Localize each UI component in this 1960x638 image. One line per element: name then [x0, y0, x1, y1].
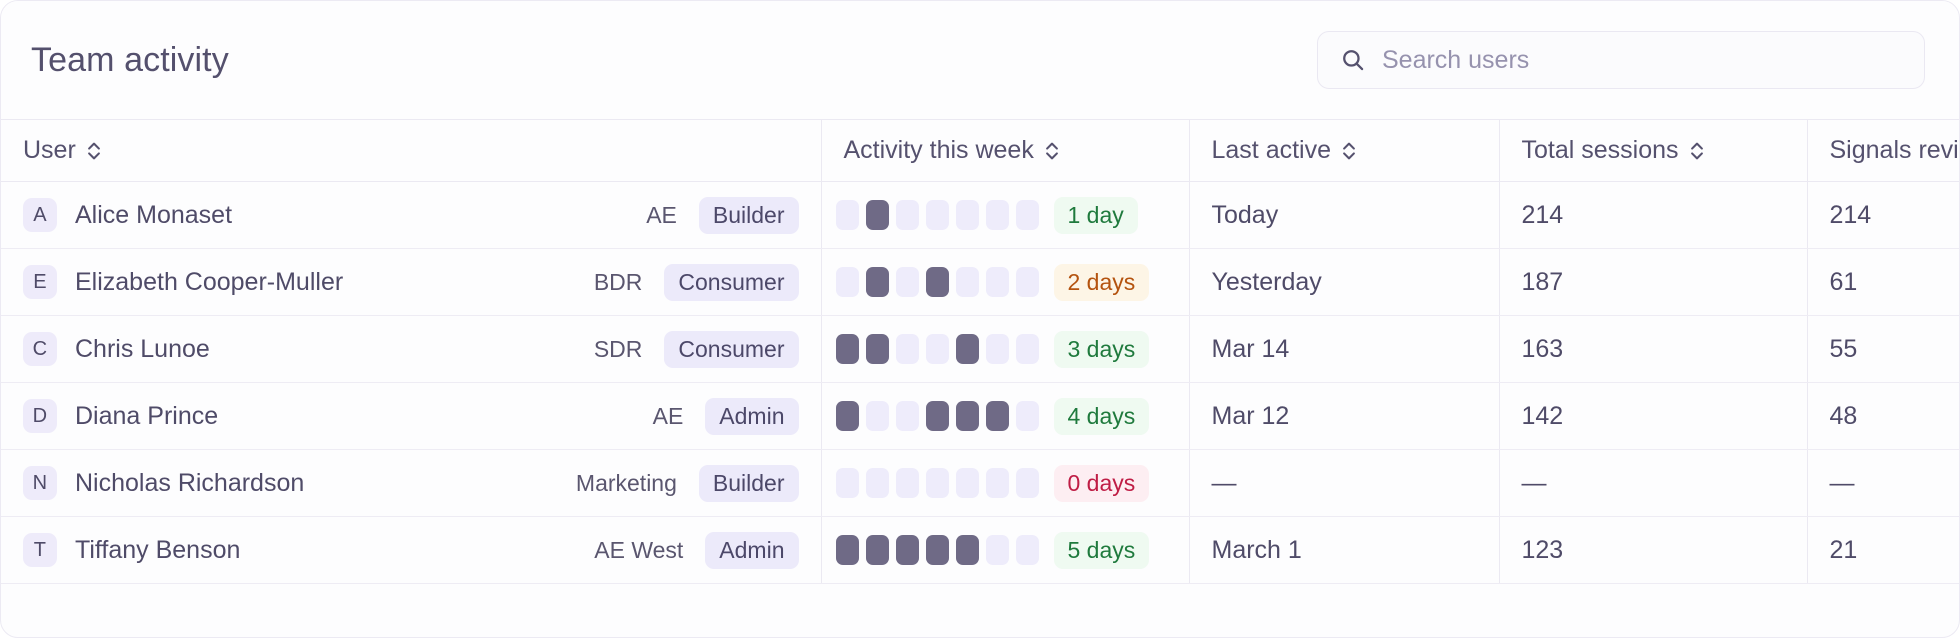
- cell-activity: 4 days: [821, 383, 1189, 450]
- activity-day-cell: [836, 535, 859, 565]
- activity-day-cell: [986, 334, 1009, 364]
- total-sessions-value: 163: [1500, 316, 1807, 382]
- cell-signals-reviewed: 61: [1807, 249, 1960, 316]
- search-input[interactable]: [1382, 46, 1902, 75]
- activity-day-cell: [986, 535, 1009, 565]
- column-header-total-sessions-label: Total sessions: [1522, 136, 1679, 165]
- activity-day-cell: [926, 401, 949, 431]
- column-header-signals-reviewed[interactable]: Signals reviewed: [1807, 120, 1960, 182]
- activity-day-cell: [956, 200, 979, 230]
- activity-day-cell: [986, 401, 1009, 431]
- column-header-signals-reviewed-label: Signals reviewed: [1830, 136, 1960, 165]
- activity-day-cell: [926, 200, 949, 230]
- chevron-up-down-icon: [86, 140, 102, 162]
- cell-last-active: Today: [1189, 182, 1499, 249]
- cell-last-active: Mar 14: [1189, 316, 1499, 383]
- cell-activity: 2 days: [821, 249, 1189, 316]
- activity-day-cell: [1016, 267, 1039, 297]
- signals-reviewed-value: 55: [1808, 316, 1960, 382]
- active-days-badge: 1 day: [1054, 197, 1138, 234]
- activity-day-cell: [926, 334, 949, 364]
- column-header-last-active[interactable]: Last active: [1189, 120, 1499, 182]
- column-header-total-sessions[interactable]: Total sessions: [1499, 120, 1807, 182]
- table-row[interactable]: D Diana Prince AE Admin 4 days Mar 12 14…: [1, 383, 1960, 450]
- cell-signals-reviewed: 21: [1807, 517, 1960, 584]
- user-tag-badge: Consumer: [664, 331, 798, 368]
- column-header-activity[interactable]: Activity this week: [821, 120, 1189, 182]
- active-days-badge: 0 days: [1054, 465, 1150, 502]
- last-active-value: March 1: [1190, 517, 1499, 583]
- cell-activity: 0 days: [821, 450, 1189, 517]
- activity-sparkline: 0 days: [822, 450, 1189, 516]
- activity-day-cell: [896, 200, 919, 230]
- activity-day-cell: [986, 200, 1009, 230]
- total-sessions-value: 187: [1500, 249, 1807, 315]
- cell-last-active: —: [1189, 450, 1499, 517]
- table-row[interactable]: C Chris Lunoe SDR Consumer 3 days Mar 14…: [1, 316, 1960, 383]
- user-role: SDR: [594, 336, 643, 363]
- activity-sparkline: 1 day: [822, 182, 1189, 248]
- activity-day-cell: [866, 401, 889, 431]
- card-header: Team activity: [1, 1, 1959, 119]
- last-active-value: Yesterday: [1190, 249, 1499, 315]
- activity-sparkline: 4 days: [822, 383, 1189, 449]
- activity-day-cell: [926, 468, 949, 498]
- column-header-last-active-label: Last active: [1212, 136, 1332, 165]
- cell-signals-reviewed: —: [1807, 450, 1960, 517]
- signals-reviewed-value: 48: [1808, 383, 1960, 449]
- signals-reviewed-value: —: [1808, 450, 1960, 516]
- activity-sparkline: 5 days: [822, 517, 1189, 583]
- cell-last-active: Mar 12: [1189, 383, 1499, 450]
- last-active-value: Mar 12: [1190, 383, 1499, 449]
- activity-day-cell: [956, 401, 979, 431]
- avatar: E: [23, 265, 57, 299]
- cell-total-sessions: 142: [1499, 383, 1807, 450]
- table-header-row: User Activity this week: [1, 120, 1960, 182]
- cell-signals-reviewed: 55: [1807, 316, 1960, 383]
- activity-day-cell: [866, 468, 889, 498]
- table-row[interactable]: E Elizabeth Cooper-Muller BDR Consumer 2…: [1, 249, 1960, 316]
- avatar: T: [23, 533, 57, 567]
- activity-day-cell: [836, 334, 859, 364]
- user-tag-badge: Builder: [699, 197, 799, 234]
- cell-user: T Tiffany Benson AE West Admin: [1, 517, 821, 584]
- activity-day-cell: [866, 267, 889, 297]
- active-days-badge: 4 days: [1054, 398, 1150, 435]
- user-name: Diana Prince: [75, 402, 635, 431]
- signals-reviewed-value: 61: [1808, 249, 1960, 315]
- activity-day-cell: [1016, 401, 1039, 431]
- table-row[interactable]: N Nicholas Richardson Marketing Builder …: [1, 450, 1960, 517]
- total-sessions-value: 142: [1500, 383, 1807, 449]
- activity-day-cell: [896, 334, 919, 364]
- activity-sparkline: 3 days: [822, 316, 1189, 382]
- user-name: Alice Monaset: [75, 201, 628, 230]
- chevron-up-down-icon: [1341, 140, 1357, 162]
- user-tag-badge: Admin: [705, 532, 798, 569]
- activity-day-cell: [836, 468, 859, 498]
- signals-reviewed-value: 21: [1808, 517, 1960, 583]
- active-days-badge: 5 days: [1054, 532, 1150, 569]
- avatar: A: [23, 198, 57, 232]
- activity-day-cell: [956, 267, 979, 297]
- activity-day-cell: [836, 401, 859, 431]
- column-header-activity-label: Activity this week: [844, 136, 1034, 165]
- cell-user: C Chris Lunoe SDR Consumer: [1, 316, 821, 383]
- activity-day-cell: [1016, 200, 1039, 230]
- activity-day-cell: [896, 267, 919, 297]
- cell-activity: 3 days: [821, 316, 1189, 383]
- user-name: Nicholas Richardson: [75, 469, 558, 498]
- activity-day-cell: [866, 200, 889, 230]
- avatar: N: [23, 466, 57, 500]
- cell-user: A Alice Monaset AE Builder: [1, 182, 821, 249]
- activity-day-cell: [896, 535, 919, 565]
- user-name: Tiffany Benson: [75, 536, 576, 565]
- user-tag-badge: Admin: [705, 398, 798, 435]
- user-tag-badge: Builder: [699, 465, 799, 502]
- activity-day-cell: [836, 267, 859, 297]
- search-users-box[interactable]: [1317, 31, 1925, 89]
- column-header-user-label: User: [23, 136, 76, 165]
- activity-day-cell: [836, 200, 859, 230]
- cell-signals-reviewed: 214: [1807, 182, 1960, 249]
- activity-sparkline: 2 days: [822, 249, 1189, 315]
- cell-total-sessions: 214: [1499, 182, 1807, 249]
- cell-total-sessions: —: [1499, 450, 1807, 517]
- activity-day-cell: [986, 267, 1009, 297]
- table-row[interactable]: T Tiffany Benson AE West Admin 5 days Ma…: [1, 517, 1960, 584]
- activity-day-cell: [1016, 468, 1039, 498]
- search-icon: [1340, 47, 1366, 73]
- activity-day-cell: [956, 334, 979, 364]
- table-header: User Activity this week: [1, 120, 1960, 182]
- cell-user: E Elizabeth Cooper-Muller BDR Consumer: [1, 249, 821, 316]
- chevron-up-down-icon: [1689, 140, 1705, 162]
- user-tag-badge: Consumer: [664, 264, 798, 301]
- total-sessions-value: 214: [1500, 182, 1807, 248]
- cell-total-sessions: 163: [1499, 316, 1807, 383]
- last-active-value: Today: [1190, 182, 1499, 248]
- user-role: AE West: [594, 537, 683, 564]
- active-days-badge: 3 days: [1054, 331, 1150, 368]
- team-activity-card: Team activity User: [0, 0, 1960, 638]
- user-name: Elizabeth Cooper-Muller: [75, 268, 576, 297]
- activity-day-cell: [1016, 535, 1039, 565]
- cell-activity: 5 days: [821, 517, 1189, 584]
- activity-day-cell: [956, 468, 979, 498]
- activity-day-cell: [986, 468, 1009, 498]
- cell-activity: 1 day: [821, 182, 1189, 249]
- cell-total-sessions: 187: [1499, 249, 1807, 316]
- chevron-up-down-icon: [1044, 140, 1060, 162]
- total-sessions-value: 123: [1500, 517, 1807, 583]
- signals-reviewed-value: 214: [1808, 182, 1960, 248]
- user-role: AE: [646, 202, 677, 229]
- activity-day-cell: [926, 267, 949, 297]
- activity-day-cell: [926, 535, 949, 565]
- active-days-badge: 2 days: [1054, 264, 1150, 301]
- column-header-user[interactable]: User: [1, 120, 821, 182]
- user-role: AE: [653, 403, 684, 430]
- avatar: C: [23, 332, 57, 366]
- total-sessions-value: —: [1500, 450, 1807, 516]
- team-activity-table: User Activity this week: [1, 119, 1960, 584]
- last-active-value: —: [1190, 450, 1499, 516]
- cell-last-active: March 1: [1189, 517, 1499, 584]
- cell-signals-reviewed: 48: [1807, 383, 1960, 450]
- activity-day-cell: [896, 401, 919, 431]
- table-row[interactable]: A Alice Monaset AE Builder 1 day Today 2…: [1, 182, 1960, 249]
- cell-total-sessions: 123: [1499, 517, 1807, 584]
- activity-day-cell: [1016, 334, 1039, 364]
- activity-day-cell: [956, 535, 979, 565]
- activity-day-cell: [896, 468, 919, 498]
- user-role: BDR: [594, 269, 643, 296]
- user-role: Marketing: [576, 470, 677, 497]
- activity-day-cell: [866, 535, 889, 565]
- cell-user: D Diana Prince AE Admin: [1, 383, 821, 450]
- table-body: A Alice Monaset AE Builder 1 day Today 2…: [1, 182, 1960, 584]
- activity-day-cell: [866, 334, 889, 364]
- page-title: Team activity: [31, 43, 229, 77]
- cell-user: N Nicholas Richardson Marketing Builder: [1, 450, 821, 517]
- last-active-value: Mar 14: [1190, 316, 1499, 382]
- user-name: Chris Lunoe: [75, 335, 576, 364]
- avatar: D: [23, 399, 57, 433]
- cell-last-active: Yesterday: [1189, 249, 1499, 316]
